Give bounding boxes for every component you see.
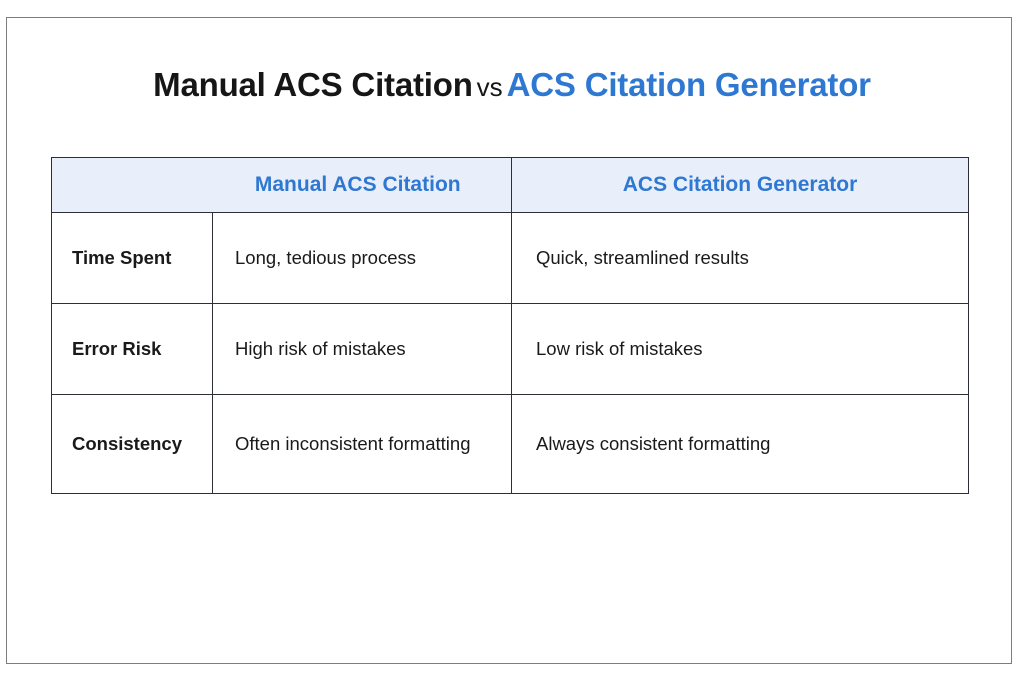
cell-manual-time-spent: Long, tedious process	[213, 213, 512, 304]
cell-generator-error-risk: Low risk of mistakes	[512, 304, 969, 395]
table-body: Time Spent Long, tedious process Quick, …	[52, 213, 969, 494]
row-label-time-spent: Time Spent	[52, 213, 213, 304]
page-title: Manual ACS CitationvsACS Citation Genera…	[0, 68, 1024, 101]
page-title-generator-part: ACS Citation Generator	[507, 66, 871, 103]
row-label-error-risk: Error Risk	[52, 304, 213, 395]
page-title-vs-part: vs	[473, 72, 507, 102]
row-label-consistency: Consistency	[52, 395, 213, 494]
cell-generator-time-spent: Quick, streamlined results	[512, 213, 969, 304]
cell-manual-error-risk: High risk of mistakes	[213, 304, 512, 395]
table-header-spacer	[52, 158, 213, 213]
table-header: Manual ACS Citation ACS Citation Generat…	[52, 158, 969, 213]
page-canvas: Manual ACS CitationvsACS Citation Genera…	[0, 0, 1024, 683]
page-title-manual-part: Manual ACS Citation	[153, 66, 472, 103]
table-header-manual: Manual ACS Citation	[213, 158, 512, 213]
comparison-table: Manual ACS Citation ACS Citation Generat…	[51, 157, 969, 494]
cell-manual-consistency: Often inconsistent formatting	[213, 395, 512, 494]
table-row: Time Spent Long, tedious process Quick, …	[52, 213, 969, 304]
table-header-row: Manual ACS Citation ACS Citation Generat…	[52, 158, 969, 213]
table-row: Consistency Often inconsistent formattin…	[52, 395, 969, 494]
cell-generator-consistency: Always consistent formatting	[512, 395, 969, 494]
table-row: Error Risk High risk of mistakes Low ris…	[52, 304, 969, 395]
table-header-generator: ACS Citation Generator	[512, 158, 969, 213]
